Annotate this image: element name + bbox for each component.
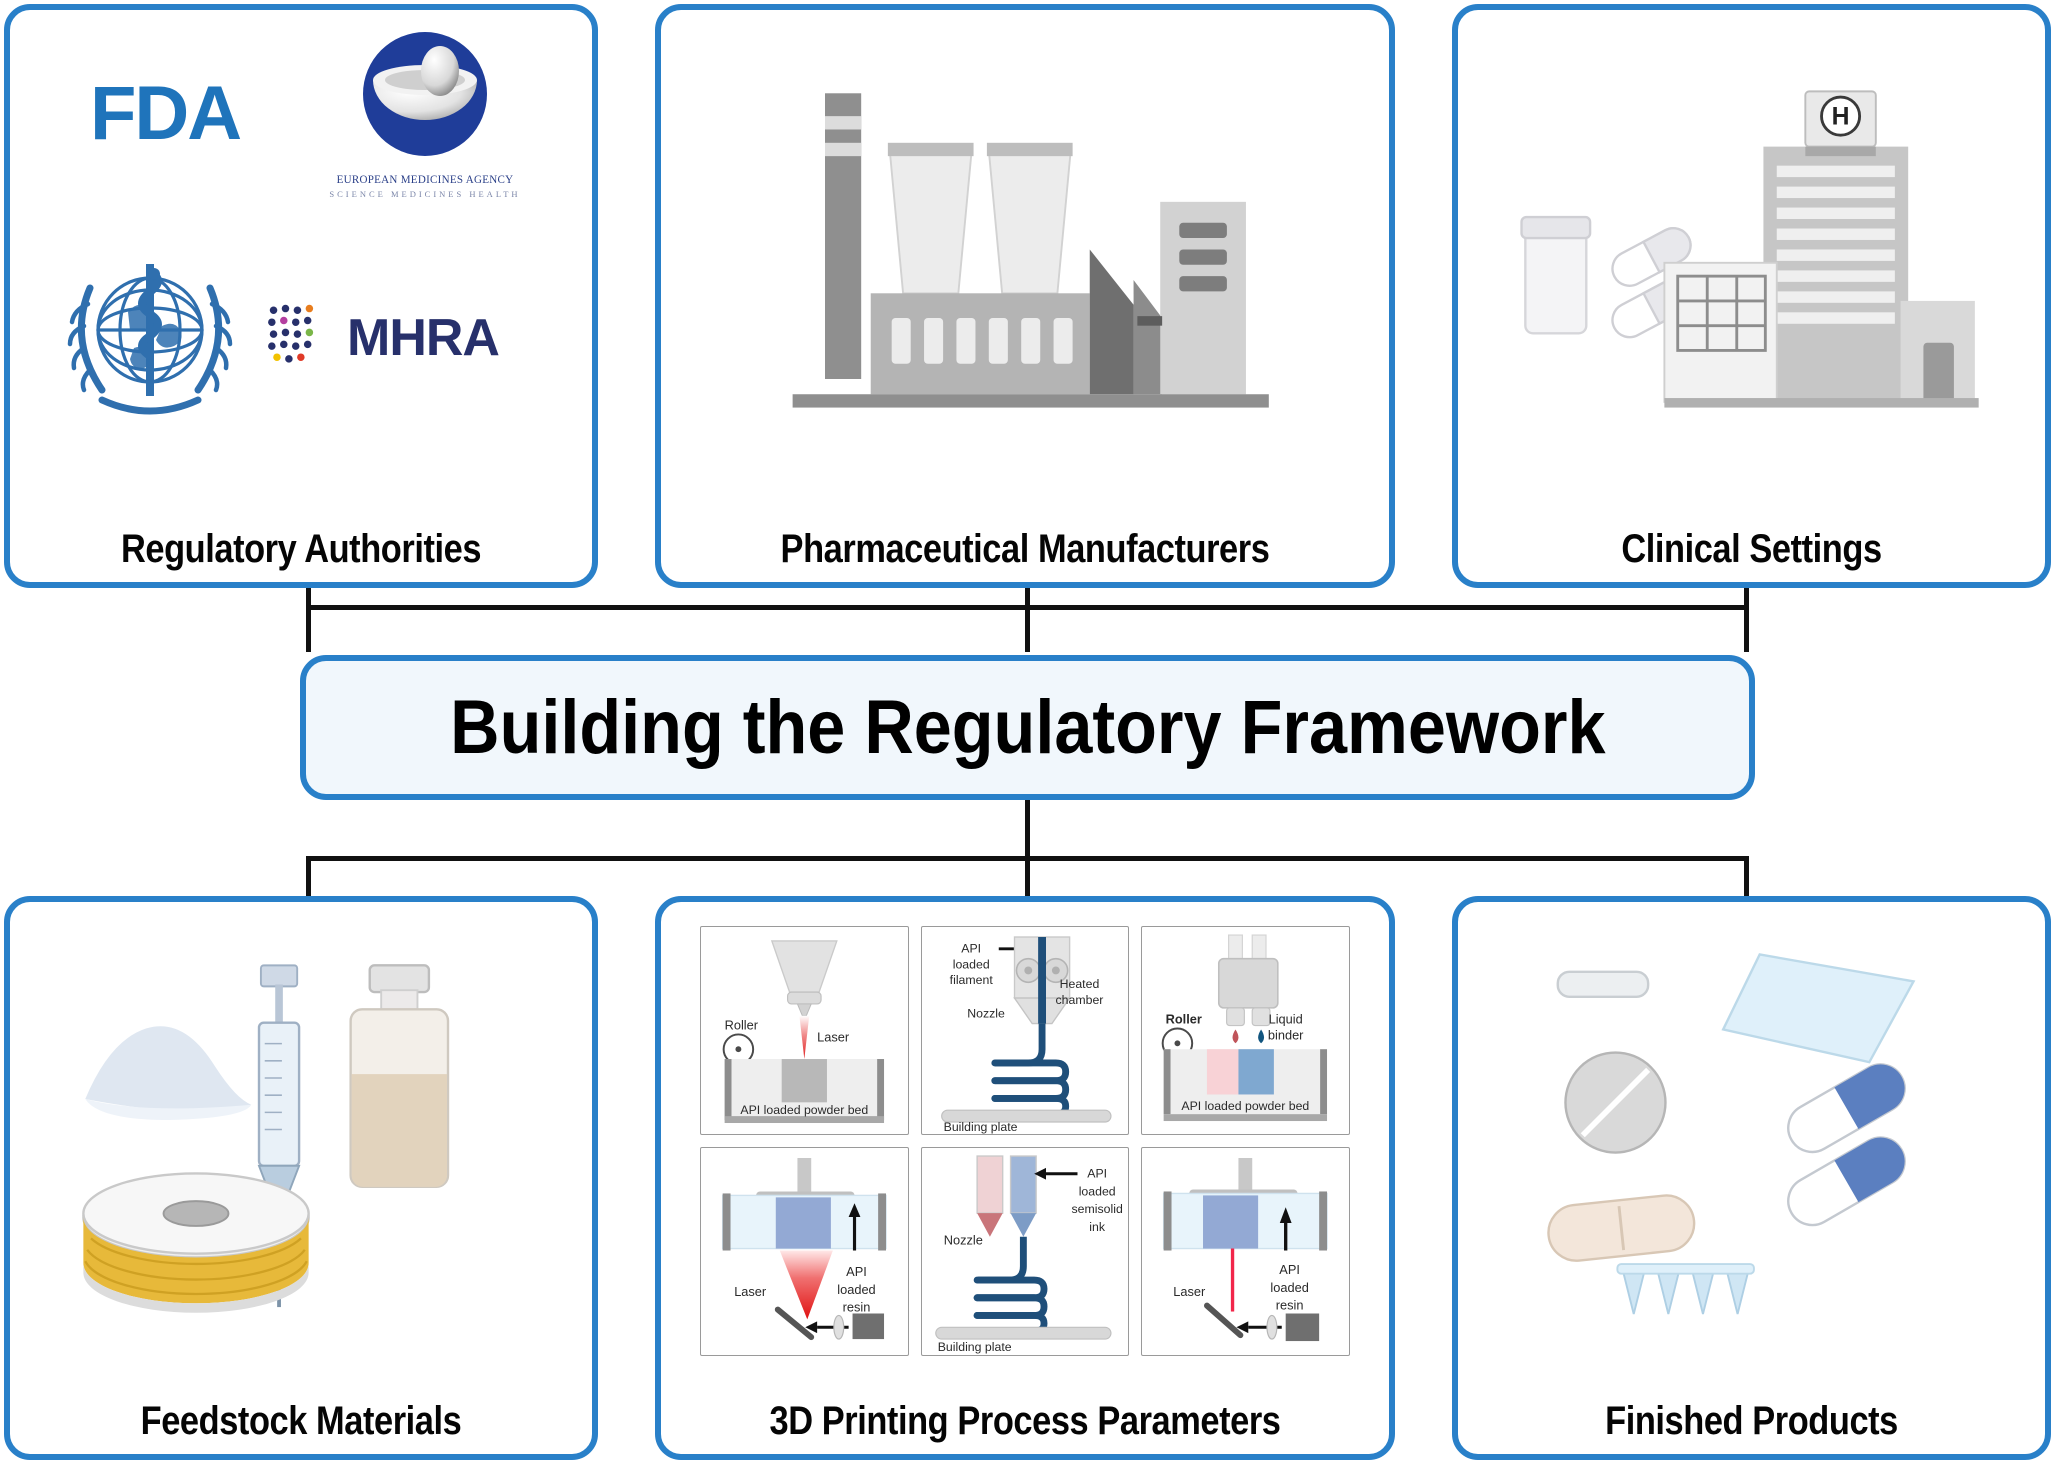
svg-text:Liquid: Liquid [1269, 1012, 1303, 1027]
label-pharmaceutical-manufacturers: Pharmaceutical Manufacturers [712, 527, 1338, 572]
printing-process-area: Roller Laser API loaded powder bed [661, 902, 1389, 1380]
card-finished-products[interactable]: Finished Products [1452, 896, 2051, 1460]
label-finished-products: Finished Products [1499, 1399, 2004, 1444]
svg-text:Heated: Heated [1059, 977, 1099, 991]
connector-top-mid-vertical [1025, 586, 1030, 652]
svg-text:Building plate: Building plate [943, 1120, 1017, 1134]
svg-text:Roller: Roller [1166, 1012, 1202, 1027]
svg-text:API: API [1087, 1167, 1107, 1181]
svg-text:API: API [1280, 1262, 1301, 1277]
panel-stereolithography-top-down: Laser API loaded resin [700, 1147, 909, 1356]
panel-binder-jetting: Roller Liquid binder API loaded powder b… [1141, 926, 1350, 1135]
svg-text:Nozzle: Nozzle [943, 1233, 982, 1248]
svg-text:API loaded powder bed: API loaded powder bed [1182, 1099, 1310, 1113]
svg-text:resin: resin [843, 1300, 871, 1315]
connector-bottom-midcol-vertical [1025, 856, 1030, 898]
printing-process-grid: Roller Laser API loaded powder bed [700, 926, 1350, 1356]
svg-text:chamber: chamber [1055, 993, 1103, 1007]
card-printing-process-parameters[interactable]: Roller Laser API loaded powder bed [655, 896, 1395, 1460]
card-pharmaceutical-manufacturers[interactable]: Pharmaceutical Manufacturers [655, 4, 1395, 588]
mhra-wordmark: MHRA [347, 308, 499, 368]
svg-text:Building plate: Building plate [937, 1340, 1011, 1354]
svg-text:API: API [846, 1264, 867, 1279]
svg-text:semisolid: semisolid [1071, 1202, 1122, 1216]
panel-selective-laser-sintering: Roller Laser API loaded powder bed [700, 926, 909, 1135]
hospital-icon: H [1502, 59, 2002, 459]
connector-bottom-mid-vertical [1025, 800, 1030, 860]
factory-icon [725, 59, 1325, 459]
finished-products-area [1458, 902, 2045, 1380]
connector-top-left-vertical [306, 586, 311, 652]
label-printing-process-parameters: 3D Printing Process Parameters [712, 1399, 1338, 1444]
ema-mark-icon [355, 28, 495, 168]
svg-text:API: API [961, 942, 981, 956]
connector-bottom-right-vertical [1744, 856, 1749, 898]
svg-text:resin: resin [1276, 1298, 1304, 1313]
svg-text:Laser: Laser [817, 1029, 850, 1044]
connector-top-right-vertical [1744, 586, 1749, 652]
connector-top-horizontal [306, 605, 1749, 610]
card-feedstock-materials[interactable]: Feedstock Materials [4, 896, 598, 1460]
mhra-dots-icon [265, 300, 335, 375]
hospital-sign-letter: H [1831, 104, 1849, 131]
svg-text:loaded: loaded [1271, 1280, 1309, 1295]
svg-text:loaded: loaded [952, 957, 989, 971]
connector-bottom-left-vertical [306, 856, 311, 898]
svg-text:Laser: Laser [1174, 1284, 1207, 1299]
panel-stereolithography-bottom-up: Laser API loaded resin [1141, 1147, 1350, 1356]
ema-logo: EUROPEAN MEDICINES AGENCY SCIENCE MEDICI… [310, 28, 540, 199]
factory-illustration-area [661, 10, 1389, 508]
label-clinical-settings: Clinical Settings [1499, 527, 2004, 572]
who-logo [50, 230, 250, 430]
svg-text:loaded: loaded [1078, 1184, 1115, 1198]
label-regulatory-authorities: Regulatory Authorities [51, 527, 552, 572]
card-regulatory-authorities[interactable]: FDA [4, 4, 598, 588]
central-banner[interactable]: Building the Regulatory Framework [300, 655, 1755, 800]
panel-fused-deposition-modelling: API loaded filament Nozzle Heated ch [921, 926, 1130, 1135]
feedstock-illustration-area [10, 902, 592, 1380]
svg-text:ink: ink [1089, 1220, 1106, 1234]
svg-text:Laser: Laser [734, 1284, 767, 1299]
svg-text:Nozzle: Nozzle [967, 1007, 1005, 1021]
feedstock-icon [51, 931, 551, 1351]
ema-name-line1: EUROPEAN MEDICINES AGENCY [319, 172, 531, 187]
svg-text:Roller: Roller [725, 1018, 759, 1033]
panel-semisolid-extrusion: API loaded semisolid ink Nozzle Building… [921, 1147, 1130, 1356]
svg-text:API loaded powder bed: API loaded powder bed [740, 1103, 868, 1117]
card-clinical-settings[interactable]: H Clinical Settings [1452, 4, 2051, 588]
ema-name-line2: SCIENCE MEDICINES HEALTH [310, 189, 540, 199]
dosage-forms-icon [1502, 939, 2002, 1343]
diagram-canvas: FDA [0, 0, 2055, 1464]
banner-title: Building the Regulatory Framework [450, 684, 1605, 771]
label-feedstock-materials: Feedstock Materials [51, 1399, 552, 1444]
clinical-illustration-area: H [1458, 10, 2045, 508]
regulatory-logos-area: FDA [10, 10, 592, 508]
svg-text:filament: filament [949, 973, 993, 987]
svg-text:loaded: loaded [837, 1282, 875, 1297]
mhra-logo: MHRA [265, 300, 499, 375]
fda-logo: FDA [90, 70, 240, 157]
svg-text:binder: binder [1268, 1027, 1304, 1042]
